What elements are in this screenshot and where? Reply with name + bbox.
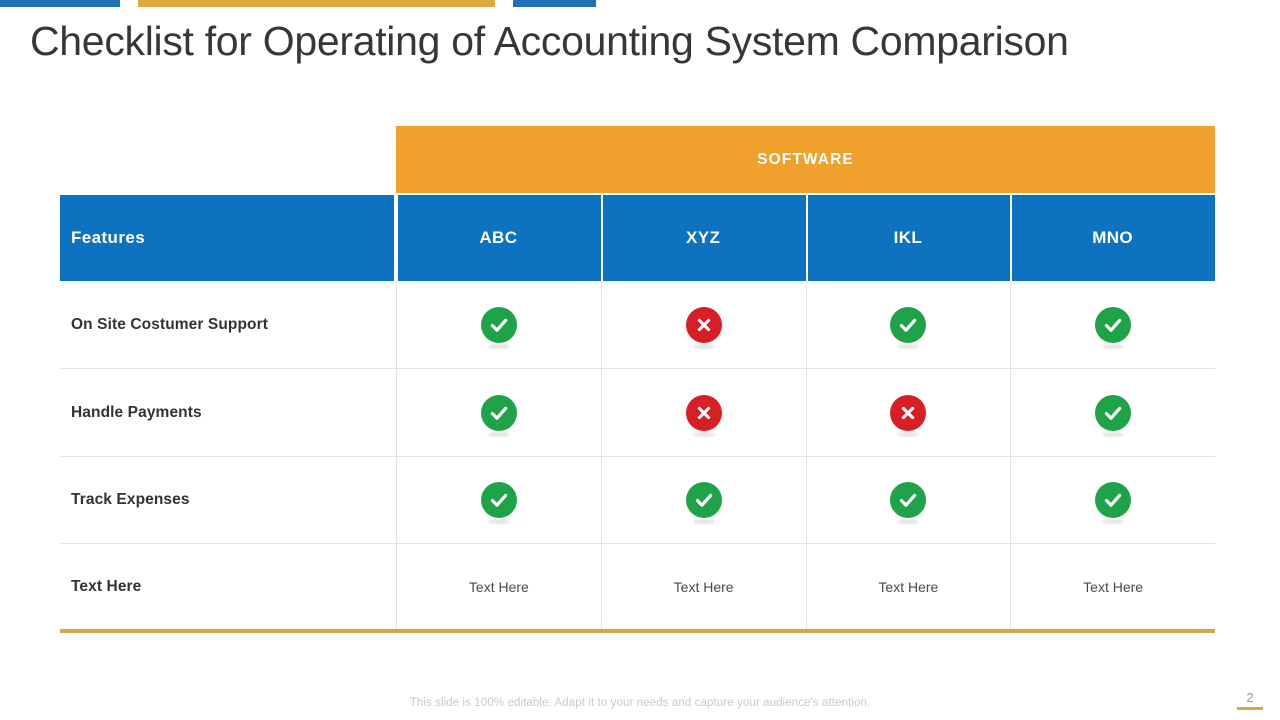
value-cell-abc [396, 281, 601, 368]
column-header-label: Features [71, 228, 145, 248]
value-cell-xyz [601, 281, 806, 368]
table-bottom-rule [60, 629, 1215, 633]
value-cell-abc: Text Here [396, 544, 601, 629]
page-title: Checklist for Operating of Accounting Sy… [30, 16, 1250, 66]
page-number-value: 2 [1237, 690, 1263, 705]
check-icon [1095, 482, 1131, 518]
feature-cell: On Site Costumer Support [60, 281, 396, 368]
column-header-label: XYZ [686, 228, 720, 248]
column-header-label: IKL [894, 228, 923, 248]
group-header-label: SOFTWARE [757, 151, 854, 169]
value-cell-mno [1010, 369, 1215, 456]
column-header-ikl: IKL [806, 195, 1011, 281]
accent-bar-orange [138, 0, 495, 7]
cell-text: Text Here [469, 579, 529, 595]
column-header-features: Features [60, 195, 396, 281]
table-header-row: Features ABC XYZ IKL MNO [60, 195, 1215, 281]
table-row: Handle Payments [60, 369, 1215, 457]
table-row: On Site Costumer Support [60, 281, 1215, 369]
table-body: On Site Costumer Support Handle Payments… [60, 281, 1215, 629]
feature-cell: Handle Payments [60, 369, 396, 456]
cross-icon [890, 395, 926, 431]
value-cell-ikl: Text Here [806, 544, 1011, 629]
page-number: 2 [1237, 690, 1263, 710]
value-cell-mno [1010, 281, 1215, 368]
cell-text: Text Here [674, 579, 734, 595]
value-cell-xyz: Text Here [601, 544, 806, 629]
value-cell-xyz [601, 457, 806, 543]
check-icon [1095, 395, 1131, 431]
accent-bar-blue-right [513, 0, 596, 7]
footer-note: This slide is 100% editable. Adapt it to… [0, 697, 1280, 709]
table-row: Track Expenses [60, 457, 1215, 544]
top-accent-bars [0, 0, 1280, 10]
value-cell-mno: Text Here [1010, 544, 1215, 629]
check-icon [890, 482, 926, 518]
column-header-abc: ABC [396, 195, 601, 281]
value-cell-abc [396, 457, 601, 543]
feature-cell: Track Expenses [60, 457, 396, 543]
column-header-label: ABC [479, 228, 517, 248]
feature-cell: Text Here [60, 544, 396, 629]
group-header-software: SOFTWARE [396, 126, 1215, 193]
check-icon [481, 482, 517, 518]
accent-bar-blue-left [0, 0, 120, 7]
value-cell-ikl [806, 457, 1011, 543]
check-icon [1095, 307, 1131, 343]
value-cell-ikl [806, 369, 1011, 456]
page-number-rule [1237, 707, 1263, 710]
cell-text: Text Here [878, 579, 938, 595]
column-header-mno: MNO [1010, 195, 1215, 281]
cross-icon [686, 395, 722, 431]
value-cell-xyz [601, 369, 806, 456]
value-cell-abc [396, 369, 601, 456]
check-icon [481, 395, 517, 431]
check-icon [686, 482, 722, 518]
cross-icon [686, 307, 722, 343]
value-cell-mno [1010, 457, 1215, 543]
cell-text: Text Here [1083, 579, 1143, 595]
check-icon [890, 307, 926, 343]
column-header-xyz: XYZ [601, 195, 806, 281]
value-cell-ikl [806, 281, 1011, 368]
column-header-label: MNO [1092, 228, 1133, 248]
table-row: Text Here Text Here Text Here Text Here … [60, 544, 1215, 629]
check-icon [481, 307, 517, 343]
